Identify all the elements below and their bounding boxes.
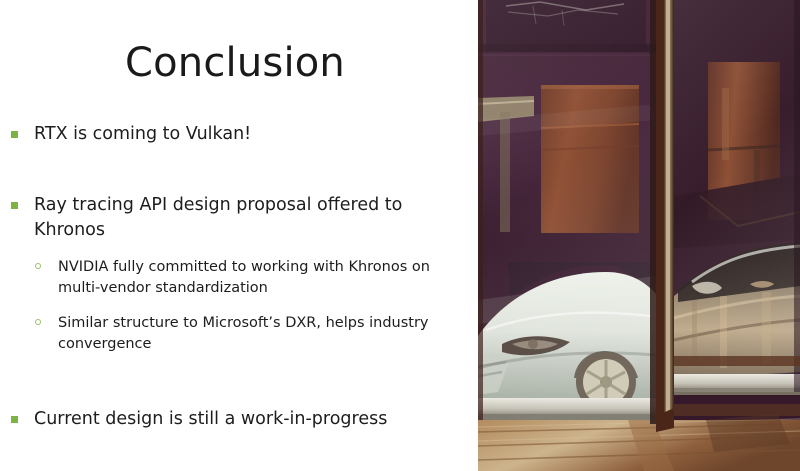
slide-root: Conclusion RTX is coming to Vulkan! Ray … xyxy=(0,0,800,471)
bullet-item-1: RTX is coming to Vulkan! xyxy=(0,122,470,147)
bullet-item-3: Current design is still a work-in-progre… xyxy=(0,407,470,432)
slide-content-column: Conclusion RTX is coming to Vulkan! Ray … xyxy=(0,0,470,471)
sub-bullet-item-1-label: NVIDIA fully committed to working with K… xyxy=(58,259,430,296)
green-circle-bullet-icon xyxy=(35,263,41,269)
sub-bullet-item-2-label: Similar structure to Microsoft’s DXR, he… xyxy=(58,315,429,352)
showroom-photo xyxy=(478,0,800,471)
bullet-item-1-label: RTX is coming to Vulkan! xyxy=(34,124,251,144)
sub-bullet-item-2: Similar structure to Microsoft’s DXR, he… xyxy=(34,313,470,355)
showroom-photo-graphic xyxy=(478,0,800,471)
page-title: Conclusion xyxy=(0,42,470,84)
green-square-bullet-icon xyxy=(11,202,18,209)
spacer-1 xyxy=(0,173,470,193)
green-circle-bullet-icon xyxy=(35,319,41,325)
bullet-item-2-label: Ray tracing API design proposal offered … xyxy=(34,195,402,240)
bullet-list: RTX is coming to Vulkan! Ray tracing API… xyxy=(0,122,470,457)
spacer-2 xyxy=(0,381,470,407)
sub-bullet-item-1: NVIDIA fully committed to working with K… xyxy=(34,257,470,299)
bullet-item-2: Ray tracing API design proposal offered … xyxy=(0,193,470,355)
sub-bullet-list: NVIDIA fully committed to working with K… xyxy=(34,257,470,355)
bullet-item-3-label: Current design is still a work-in-progre… xyxy=(34,409,387,429)
green-square-bullet-icon xyxy=(11,131,18,138)
green-square-bullet-icon xyxy=(11,416,18,423)
